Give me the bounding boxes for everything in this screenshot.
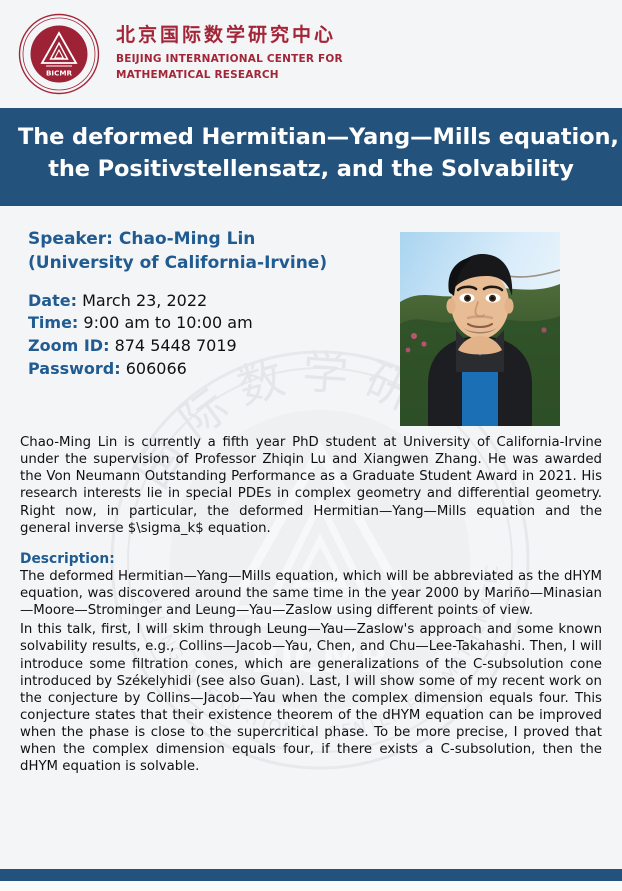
meta-label-zoom-id: Zoom ID: <box>28 336 109 355</box>
org-name-english: BEIJING INTERNATIONAL CENTER FOR MATHEMA… <box>116 52 343 84</box>
org-name-english-line2: MATHEMATICAL RESEARCH <box>116 68 343 84</box>
org-name-english-line1: BEIJING INTERNATIONAL CENTER FOR <box>116 52 343 68</box>
title-banner: The deformed Hermitian—Yang—Mills equati… <box>0 108 622 206</box>
title-line-2: the Positivstellensatz, and the Solvabil… <box>18 154 604 186</box>
speaker-portrait <box>400 232 560 426</box>
poster-body: Speaker: Chao-Ming Lin (University of Ca… <box>0 228 622 776</box>
description-heading: Description: <box>18 551 604 567</box>
description-paragraph-2: In this talk, first, I will skim through… <box>18 621 604 775</box>
bicmr-seal-logo: BICMR 北京国际数学研究中心 <box>18 13 100 95</box>
seminar-poster: BICMR 北京国际数学研究中心 北京国际数学研究中心 BEIJING INTE… <box>0 0 622 891</box>
event-info-block: Speaker: Chao-Ming Lin (University of Ca… <box>18 228 604 424</box>
description-paragraph-1: The deformed Hermitian—Yang—Mills equati… <box>18 568 604 619</box>
org-name-block: 北京国际数学研究中心 BEIJING INTERNATIONAL CENTER … <box>116 24 343 83</box>
meta-label-time: Time: <box>28 313 78 332</box>
speaker-bio: Chao-Ming Lin is currently a fifth year … <box>18 434 604 537</box>
title-line-1: The deformed Hermitian—Yang—Mills equati… <box>18 122 604 154</box>
logo-acronym-text: BICMR <box>46 69 73 78</box>
org-name-chinese: 北京国际数学研究中心 <box>116 24 343 48</box>
bottom-page-edge <box>0 881 622 891</box>
meta-label-password: Password: <box>28 359 121 378</box>
meta-value-zoom-id: 874 5448 7019 <box>115 336 237 355</box>
bottom-accent-bar <box>0 869 622 881</box>
poster-header: BICMR 北京国际数学研究中心 北京国际数学研究中心 BEIJING INTE… <box>0 0 622 108</box>
meta-label-date: Date: <box>28 291 77 310</box>
meta-value-time: 9:00 am to 10:00 am <box>83 313 252 332</box>
meta-value-date: March 23, 2022 <box>82 291 207 310</box>
meta-value-password: 606066 <box>126 359 187 378</box>
